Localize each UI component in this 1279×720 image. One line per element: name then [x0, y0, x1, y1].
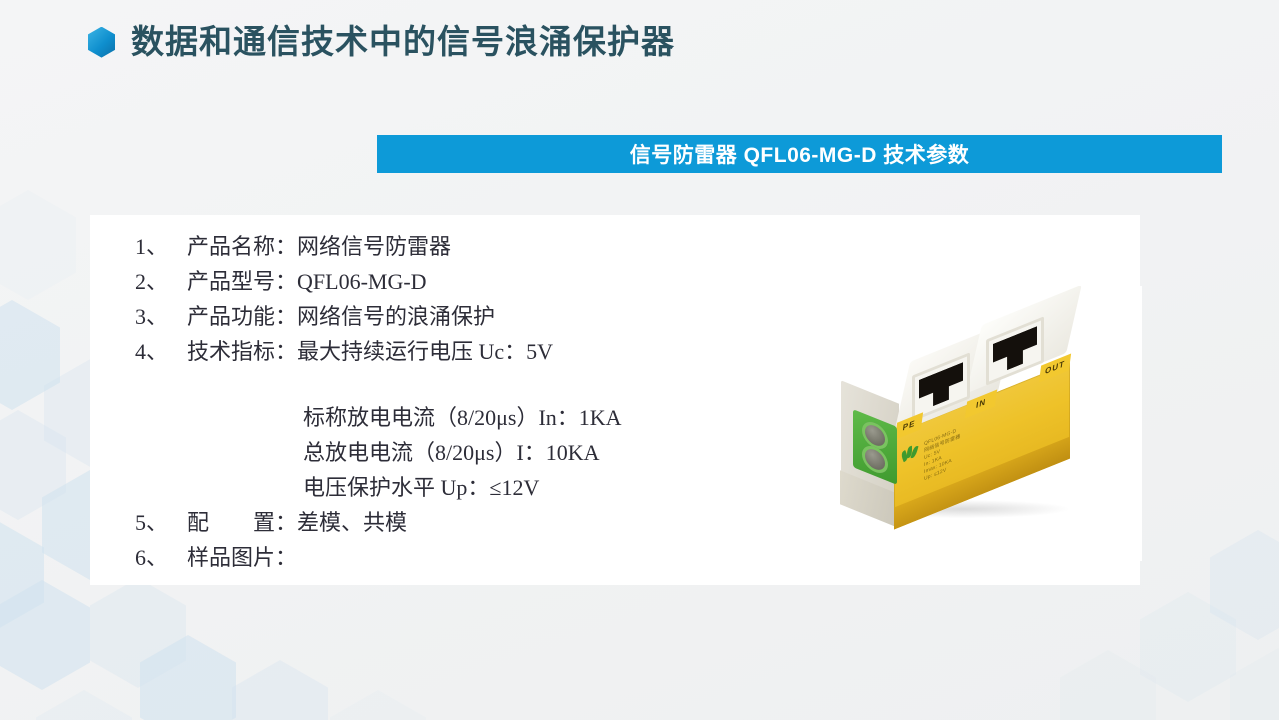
spec-line-number: 5、 [135, 505, 187, 540]
section-banner-text: 信号防雷器 QFL06-MG-D 技术参数 [630, 139, 970, 169]
hexagon-shape [0, 410, 66, 520]
hexagon-shape [0, 190, 76, 300]
spec-line: 6、 样品图片： [135, 540, 775, 575]
spec-line-label: 产品名称： [187, 229, 297, 264]
spec-line-number: 6、 [135, 540, 187, 575]
hexagon-shape [0, 520, 44, 630]
hexagon-shape [1060, 650, 1156, 720]
product-photo: IN OUT PE QFL06-MG-D 网络信号防雷器 Uc: 5V In: … [816, 286, 1142, 561]
spec-line-number: 1、 [135, 229, 187, 264]
spec-line-label: 产品型号： [187, 264, 297, 299]
page-title-text: 数据和通信技术中的信号浪涌保护器 [131, 24, 675, 60]
spec-line-value: 差模、共模 [297, 505, 407, 540]
hexagon-icon [88, 27, 115, 58]
spec-sub-line: 标称放电电流（8/20μs）In：1KA [303, 400, 775, 435]
spec-line: 5、 配 置： 差模、共模 [135, 505, 775, 540]
hexagon-shape [0, 580, 90, 690]
hexagon-shape [36, 690, 132, 720]
spec-line: 1、 产品名称： 网络信号防雷器 [135, 229, 775, 264]
spec-sub-line: 总放电电流（8/20μs）I：10KA [303, 435, 775, 470]
spec-line-label: 样品图片： [187, 540, 297, 575]
spec-line-label: 技术指标： [187, 334, 297, 369]
spec-line-label: 产品功能： [187, 299, 297, 334]
hexagon-shape [1210, 530, 1279, 640]
hexagon-shape [232, 660, 328, 720]
spec-line-number: 3、 [135, 299, 187, 334]
spec-line-value: 网络信号防雷器 [297, 229, 451, 264]
spec-line-value: 最大持续运行电压 Uc：5V [297, 334, 553, 369]
spec-line-label: 配 置： [187, 505, 297, 540]
hexagon-shape [0, 300, 60, 410]
spec-line-number: 2、 [135, 264, 187, 299]
spec-line: 3、 产品功能： 网络信号的浪涌保护 [135, 299, 775, 334]
hexagon-shape [90, 578, 186, 688]
hexagon-shape [1140, 592, 1236, 702]
hexagon-shape [330, 690, 426, 720]
spec-spacer [135, 369, 775, 400]
spec-list: 1、 产品名称： 网络信号防雷器 2、 产品型号： QFL06-MG-D 3、 … [135, 229, 775, 575]
spec-line: 2、 产品型号： QFL06-MG-D [135, 264, 775, 299]
surge-protector-device-illustration: IN OUT PE QFL06-MG-D 网络信号防雷器 Uc: 5V In: … [816, 286, 1142, 561]
spec-line: 4、 技术指标： 最大持续运行电压 Uc：5V [135, 334, 775, 369]
slide-canvas: 数据和通信技术中的信号浪涌保护器 信号防雷器 QFL06-MG-D 技术参数 1… [0, 0, 1279, 720]
spec-sub-line: 电压保护水平 Up：≤12V [303, 470, 775, 505]
spec-line-value: QFL06-MG-D [297, 264, 427, 299]
hexagon-shape [1230, 648, 1279, 720]
spec-line-value: 网络信号的浪涌保护 [297, 299, 495, 334]
page-title: 数据和通信技术中的信号浪涌保护器 [88, 24, 675, 60]
section-banner: 信号防雷器 QFL06-MG-D 技术参数 [377, 135, 1222, 173]
spec-line-number: 4、 [135, 334, 187, 369]
hexagon-shape [140, 635, 236, 720]
